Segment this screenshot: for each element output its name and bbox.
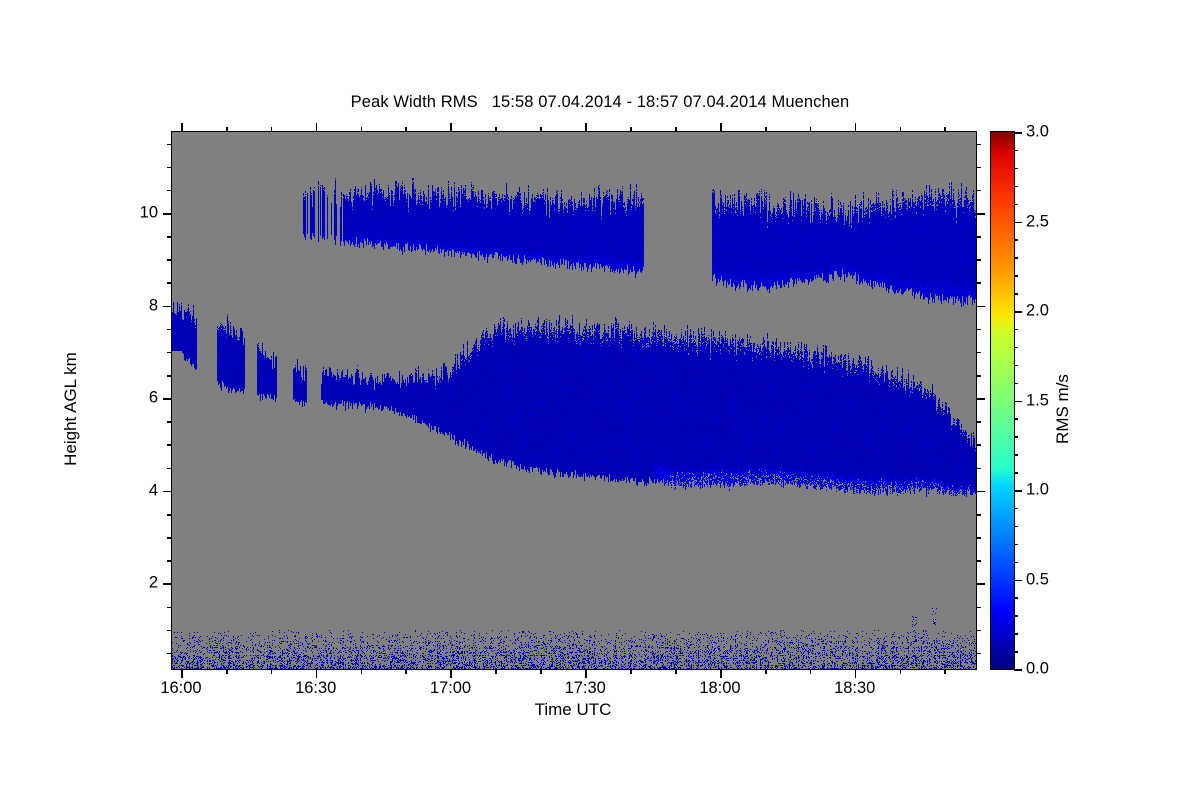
colorbar-tick-label: 3.0: [1026, 123, 1049, 142]
colorbar-tick-mark: [1014, 508, 1018, 510]
colorbar-tick-mark: [1014, 526, 1018, 528]
x-tick-mark: [540, 669, 542, 674]
y-tick-mark: [167, 444, 172, 446]
y-tick-mark: [167, 560, 172, 562]
y-tick-mark: [976, 375, 981, 377]
x-tick-mark: [765, 127, 767, 132]
colorbar-tick-label: 1.0: [1026, 481, 1049, 500]
y-tick-mark: [167, 236, 172, 238]
colorbar-tick-label: 2.5: [1026, 212, 1049, 231]
x-tick-mark: [181, 669, 183, 678]
x-tick-mark: [810, 127, 812, 132]
colorbar-label: RMS m/s: [1053, 299, 1073, 519]
y-tick-mark: [976, 468, 981, 470]
y-tick-mark: [167, 190, 172, 192]
y-tick-mark: [976, 282, 981, 284]
x-tick-mark: [585, 669, 587, 678]
y-tick-mark: [976, 444, 981, 446]
y-tick-mark: [167, 167, 172, 169]
colorbar-tick-mark: [1014, 168, 1018, 170]
y-tick-label: 6: [149, 389, 158, 408]
colorbar-tick-mark: [1014, 383, 1018, 385]
y-tick-mark: [976, 421, 981, 423]
x-tick-mark: [540, 127, 542, 132]
x-tick-mark: [450, 669, 452, 678]
colorbar-tick-mark: [1014, 651, 1018, 653]
colorbar-tick-mark: [1014, 293, 1018, 295]
y-tick-mark: [167, 352, 172, 354]
colorbar-tick-mark: [1014, 329, 1018, 331]
x-tick-mark: [405, 669, 407, 674]
y-tick-mark: [976, 653, 981, 655]
x-tick-mark: [226, 669, 228, 674]
x-tick-mark: [720, 669, 722, 678]
colorbar-tick-label: 0.0: [1026, 660, 1049, 679]
y-tick-mark: [976, 144, 981, 146]
colorbar-tick-mark: [1014, 436, 1018, 438]
colorbar-tick-mark: [1014, 239, 1018, 241]
y-tick-mark: [167, 421, 172, 423]
y-tick-mark: [976, 329, 981, 331]
x-tick-mark: [810, 669, 812, 674]
y-tick-mark: [167, 514, 172, 516]
y-tick-mark: [976, 607, 981, 609]
y-tick-mark: [167, 537, 172, 539]
y-tick-mark: [167, 630, 172, 632]
colorbar-tick-mark: [1014, 132, 1022, 134]
colorbar-tick-mark: [1014, 562, 1018, 564]
y-tick-mark: [976, 630, 981, 632]
x-tick-mark: [495, 127, 497, 132]
colorbar-tick-mark: [1014, 597, 1018, 599]
y-tick-mark: [167, 329, 172, 331]
x-tick-mark: [181, 123, 183, 132]
y-tick-mark: [167, 259, 172, 261]
plot-title: Peak Width RMS 15:58 07.04.2014 - 18:57 …: [0, 93, 1200, 112]
x-tick-label: 17:30: [565, 679, 606, 698]
x-tick-mark: [271, 127, 273, 132]
figure-canvas: Peak Width RMS 15:58 07.04.2014 - 18:57 …: [0, 0, 1200, 800]
y-tick-mark: [976, 560, 981, 562]
plot-axes-area[interactable]: 246810 16:0016:3017:0017:3018:0018:30: [171, 131, 977, 670]
y-tick-label: 10: [140, 204, 158, 223]
colorbar-tick-mark: [1014, 615, 1018, 617]
colorbar[interactable]: 0.00.51.01.52.02.53.0: [990, 131, 1015, 670]
y-tick-mark: [167, 468, 172, 470]
y-tick-label: 4: [149, 481, 158, 500]
y-tick-mark: [976, 236, 981, 238]
y-tick-mark: [976, 537, 981, 539]
x-tick-label: 18:30: [834, 679, 875, 698]
x-tick-mark: [450, 123, 452, 132]
colorbar-tick-mark: [1014, 490, 1022, 492]
x-tick-mark: [361, 669, 363, 674]
x-tick-mark: [675, 127, 677, 132]
y-tick-mark: [976, 306, 985, 308]
colorbar-tick-mark: [1014, 544, 1018, 546]
colorbar-tick-mark: [1014, 472, 1018, 474]
colorbar-tick-mark: [1014, 347, 1018, 349]
colorbar-gradient: [991, 132, 1014, 669]
x-tick-mark: [900, 669, 902, 674]
x-tick-label: 16:00: [160, 679, 201, 698]
colorbar-tick-mark: [1014, 204, 1018, 206]
x-tick-mark: [271, 669, 273, 674]
x-tick-mark: [226, 127, 228, 132]
x-tick-mark: [720, 123, 722, 132]
colorbar-tick-mark: [1014, 150, 1018, 152]
y-tick-mark: [163, 398, 172, 400]
colorbar-tick-mark: [1014, 365, 1018, 367]
y-tick-mark: [976, 583, 985, 585]
y-tick-mark: [976, 167, 981, 169]
y-tick-mark: [163, 583, 172, 585]
colorbar-tick-mark: [1014, 401, 1022, 403]
colorbar-tick-label: 2.0: [1026, 302, 1049, 321]
colorbar-tick-label: 0.5: [1026, 570, 1049, 589]
y-tick-mark: [163, 491, 172, 493]
x-tick-label: 17:00: [430, 679, 471, 698]
colorbar-tick-mark: [1014, 418, 1018, 420]
heatmap-data-canvas: [172, 132, 976, 669]
y-tick-mark: [163, 213, 172, 215]
y-axis-label: Height AGL km: [61, 289, 81, 529]
colorbar-tick-mark: [1014, 186, 1018, 188]
x-tick-mark: [316, 669, 318, 678]
x-tick-mark: [316, 123, 318, 132]
x-tick-mark: [630, 127, 632, 132]
y-tick-mark: [167, 282, 172, 284]
y-tick-mark: [167, 144, 172, 146]
y-tick-mark: [976, 259, 981, 261]
x-tick-mark: [630, 669, 632, 674]
y-tick-mark: [976, 352, 981, 354]
y-tick-mark: [167, 653, 172, 655]
y-tick-mark: [976, 491, 985, 493]
x-tick-mark: [944, 669, 946, 674]
colorbar-tick-label: 1.5: [1026, 391, 1049, 410]
x-tick-mark: [405, 127, 407, 132]
colorbar-tick-mark: [1014, 275, 1018, 277]
y-tick-mark: [163, 306, 172, 308]
colorbar-tick-mark: [1014, 580, 1022, 582]
colorbar-tick-mark: [1014, 257, 1018, 259]
x-tick-mark: [765, 669, 767, 674]
x-tick-mark: [495, 669, 497, 674]
colorbar-tick-mark: [1014, 633, 1018, 635]
x-axis-label: Time UTC: [171, 700, 975, 720]
colorbar-tick-mark: [1014, 311, 1022, 313]
x-tick-mark: [585, 123, 587, 132]
y-tick-mark: [167, 607, 172, 609]
x-tick-mark: [900, 127, 902, 132]
colorbar-tick-mark: [1014, 222, 1022, 224]
y-tick-mark: [976, 213, 985, 215]
x-tick-mark: [675, 669, 677, 674]
y-tick-mark: [976, 190, 981, 192]
x-tick-mark: [361, 127, 363, 132]
colorbar-tick-mark: [1014, 454, 1018, 456]
y-tick-label: 8: [149, 296, 158, 315]
x-tick-mark: [855, 123, 857, 132]
y-tick-mark: [167, 375, 172, 377]
colorbar-tick-mark: [1014, 669, 1022, 671]
x-tick-mark: [855, 669, 857, 678]
y-tick-mark: [976, 398, 985, 400]
y-tick-mark: [976, 514, 981, 516]
y-tick-label: 2: [149, 574, 158, 593]
x-tick-label: 16:30: [295, 679, 336, 698]
x-tick-mark: [944, 127, 946, 132]
x-tick-label: 18:00: [699, 679, 740, 698]
